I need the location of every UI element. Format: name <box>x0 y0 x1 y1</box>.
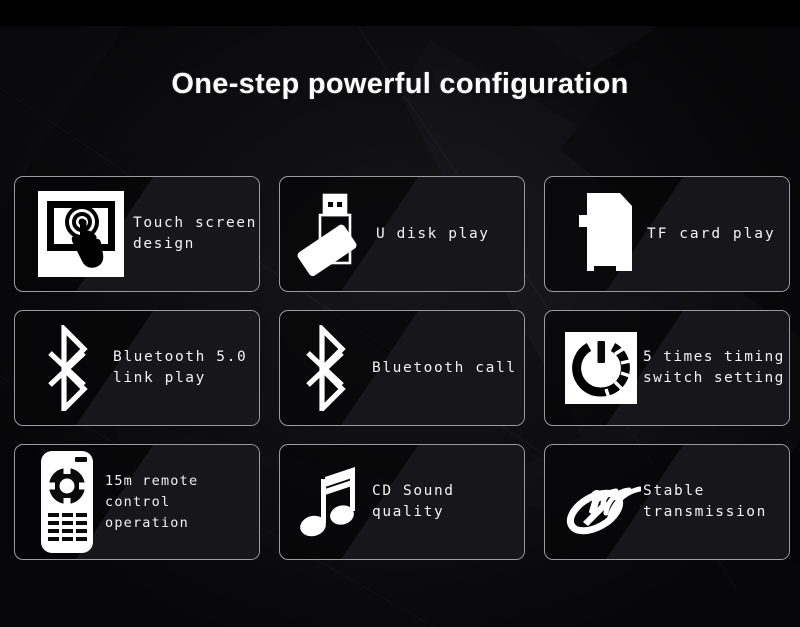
feature-card-tf-card-play[interactable]: TF card play <box>544 176 790 292</box>
feature-showcase-panel: One-step powerful configuration Touch sc… <box>0 0 800 627</box>
feature-label: Bluetooth 5.0 link play <box>113 347 247 389</box>
feature-card-bluetooth-link-play[interactable]: Bluetooth 5.0 link play <box>14 310 260 426</box>
feature-card-u-disk-play[interactable]: U disk play <box>279 176 525 292</box>
feature-label: 15m remote control operation <box>105 471 259 534</box>
feature-label: Touch screen design <box>133 213 257 255</box>
feature-card-cd-sound-quality[interactable]: CD Sound quality <box>279 444 525 560</box>
feature-grid: Touch screen design U disk play <box>14 176 786 560</box>
satellite-dish-icon <box>559 464 643 540</box>
bluetooth-icon <box>288 325 372 411</box>
power-timer-icon <box>559 332 643 404</box>
touch-screen-icon <box>33 191 129 277</box>
feature-card-timing-switch[interactable]: 5 times timing switch setting <box>544 310 790 426</box>
feature-label: CD Sound quality <box>372 481 524 523</box>
bluetooth-icon <box>31 325 113 411</box>
top-black-band <box>0 0 800 26</box>
feature-card-bluetooth-call[interactable]: Bluetooth call <box>279 310 525 426</box>
tf-card-icon <box>563 193 647 275</box>
feature-card-stable-transmission[interactable]: Stable transmission <box>544 444 790 560</box>
feature-label: TF card play <box>647 224 776 245</box>
feature-card-touch-screen-design[interactable]: Touch screen design <box>14 176 260 292</box>
remote-control-icon <box>29 450 105 554</box>
usb-flash-drive-icon <box>292 189 376 279</box>
feature-label: Bluetooth call <box>372 358 517 379</box>
feature-card-remote-control[interactable]: 15m remote control operation <box>14 444 260 560</box>
feature-label: U disk play <box>376 224 490 245</box>
feature-label: Stable transmission <box>643 481 767 523</box>
feature-label: 5 times timing switch setting <box>643 347 785 389</box>
music-note-icon <box>292 461 372 543</box>
page-title: One-step powerful configuration <box>0 68 800 101</box>
